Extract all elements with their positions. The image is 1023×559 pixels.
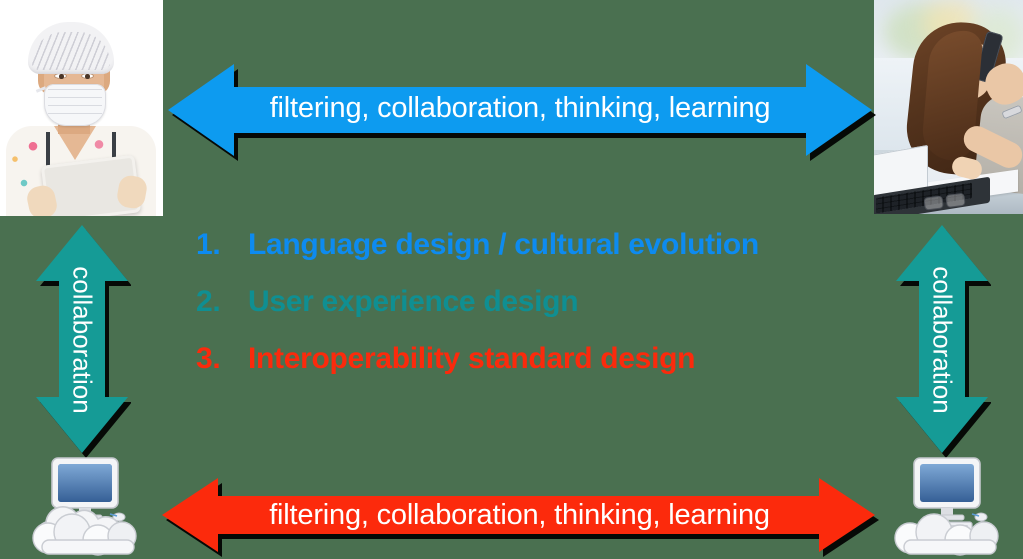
list-item-label: Interoperability standard design xyxy=(248,342,695,376)
list-item: 3. Interoperability standard design xyxy=(196,342,836,399)
clinician-pupil-right-icon xyxy=(85,74,90,79)
top-horizontal-arrow: filtering, collaboration, thinking, lear… xyxy=(163,58,877,162)
surgical-cap-icon xyxy=(28,22,114,74)
top-arrow-shape xyxy=(163,58,877,162)
list-item-number: 2. xyxy=(196,285,248,319)
cloud-computer-shape xyxy=(22,452,152,559)
surgical-mask-icon xyxy=(44,84,106,126)
right-vertical-arrow: collaboration xyxy=(893,222,991,458)
bottom-arrow-shape xyxy=(158,474,881,559)
list-item-label: User experience design xyxy=(248,285,578,319)
list-item-number: 1. xyxy=(196,228,248,262)
list-item-label: Language design / cultural evolution xyxy=(248,228,759,262)
right-arrow-shape xyxy=(893,222,991,458)
left-arrow-shape xyxy=(33,222,131,458)
clinician-photo xyxy=(0,0,163,216)
list-item: 2. User experience design xyxy=(196,285,836,342)
monitor-icon xyxy=(914,458,980,520)
office-worker-photo xyxy=(874,0,1023,214)
diagram-canvas: filtering, collaboration, thinking, lear… xyxy=(0,0,1023,559)
list-item-number: 3. xyxy=(196,342,248,376)
design-concerns-list: 1. Language design / cultural evolution … xyxy=(196,228,836,399)
clinician-pupil-left-icon xyxy=(59,74,64,79)
cloud-computing-icon-left xyxy=(22,452,152,559)
left-vertical-arrow: collaboration xyxy=(33,222,131,458)
list-item: 1. Language design / cultural evolution xyxy=(196,228,836,285)
cloud-computer-shape xyxy=(884,452,1014,559)
cloud-computing-icon-right xyxy=(884,452,1014,559)
bottom-horizontal-arrow: filtering, collaboration, thinking, lear… xyxy=(158,474,881,559)
